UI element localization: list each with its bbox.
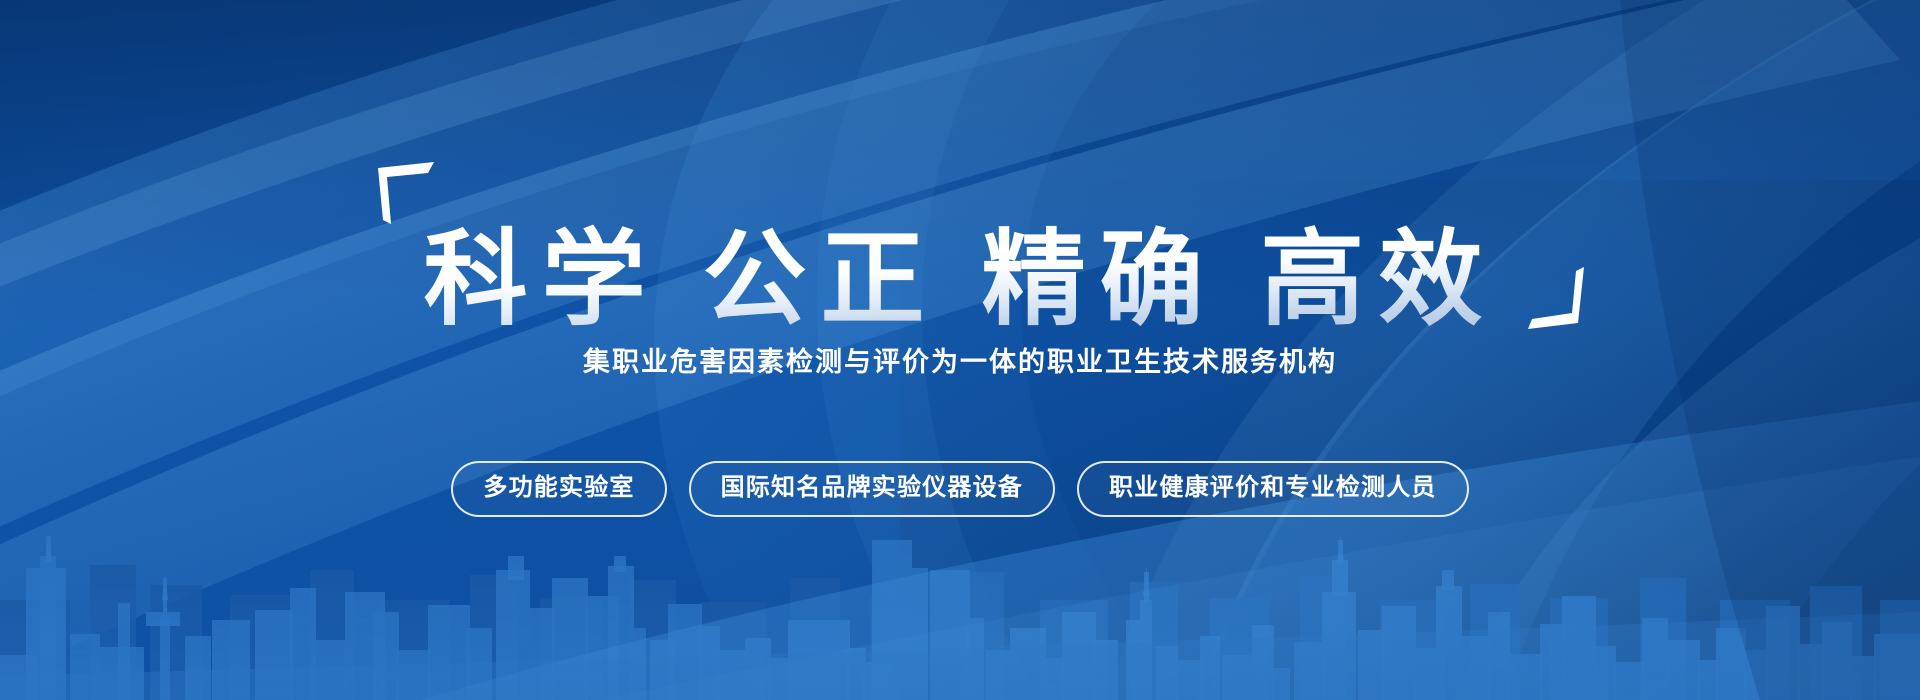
feature-pill-personnel[interactable]: 职业健康评价和专业检测人员 bbox=[1077, 461, 1469, 517]
promo-banner: 科学 公正 精确 高效 集职业危害因素检测与评价为一体的职业卫生技术服务机构 多… bbox=[0, 0, 1920, 700]
banner-content: 科学 公正 精确 高效 集职业危害因素检测与评价为一体的职业卫生技术服务机构 多… bbox=[0, 0, 1920, 700]
bracket-open-icon bbox=[378, 162, 436, 226]
page-title: 科学 公正 精确 高效 bbox=[408, 222, 1513, 338]
feature-pill-list: 多功能实验室 国际知名品牌实验仪器设备 职业健康评价和专业检测人员 bbox=[0, 461, 1920, 517]
bracket-close-icon bbox=[1528, 265, 1586, 329]
feature-pill-lab[interactable]: 多功能实验室 bbox=[451, 461, 666, 517]
feature-pill-equipment[interactable]: 国际知名品牌实验仪器设备 bbox=[689, 461, 1055, 517]
subtitle: 集职业危害因素检测与评价为一体的职业卫生技术服务机构 bbox=[0, 340, 1920, 379]
